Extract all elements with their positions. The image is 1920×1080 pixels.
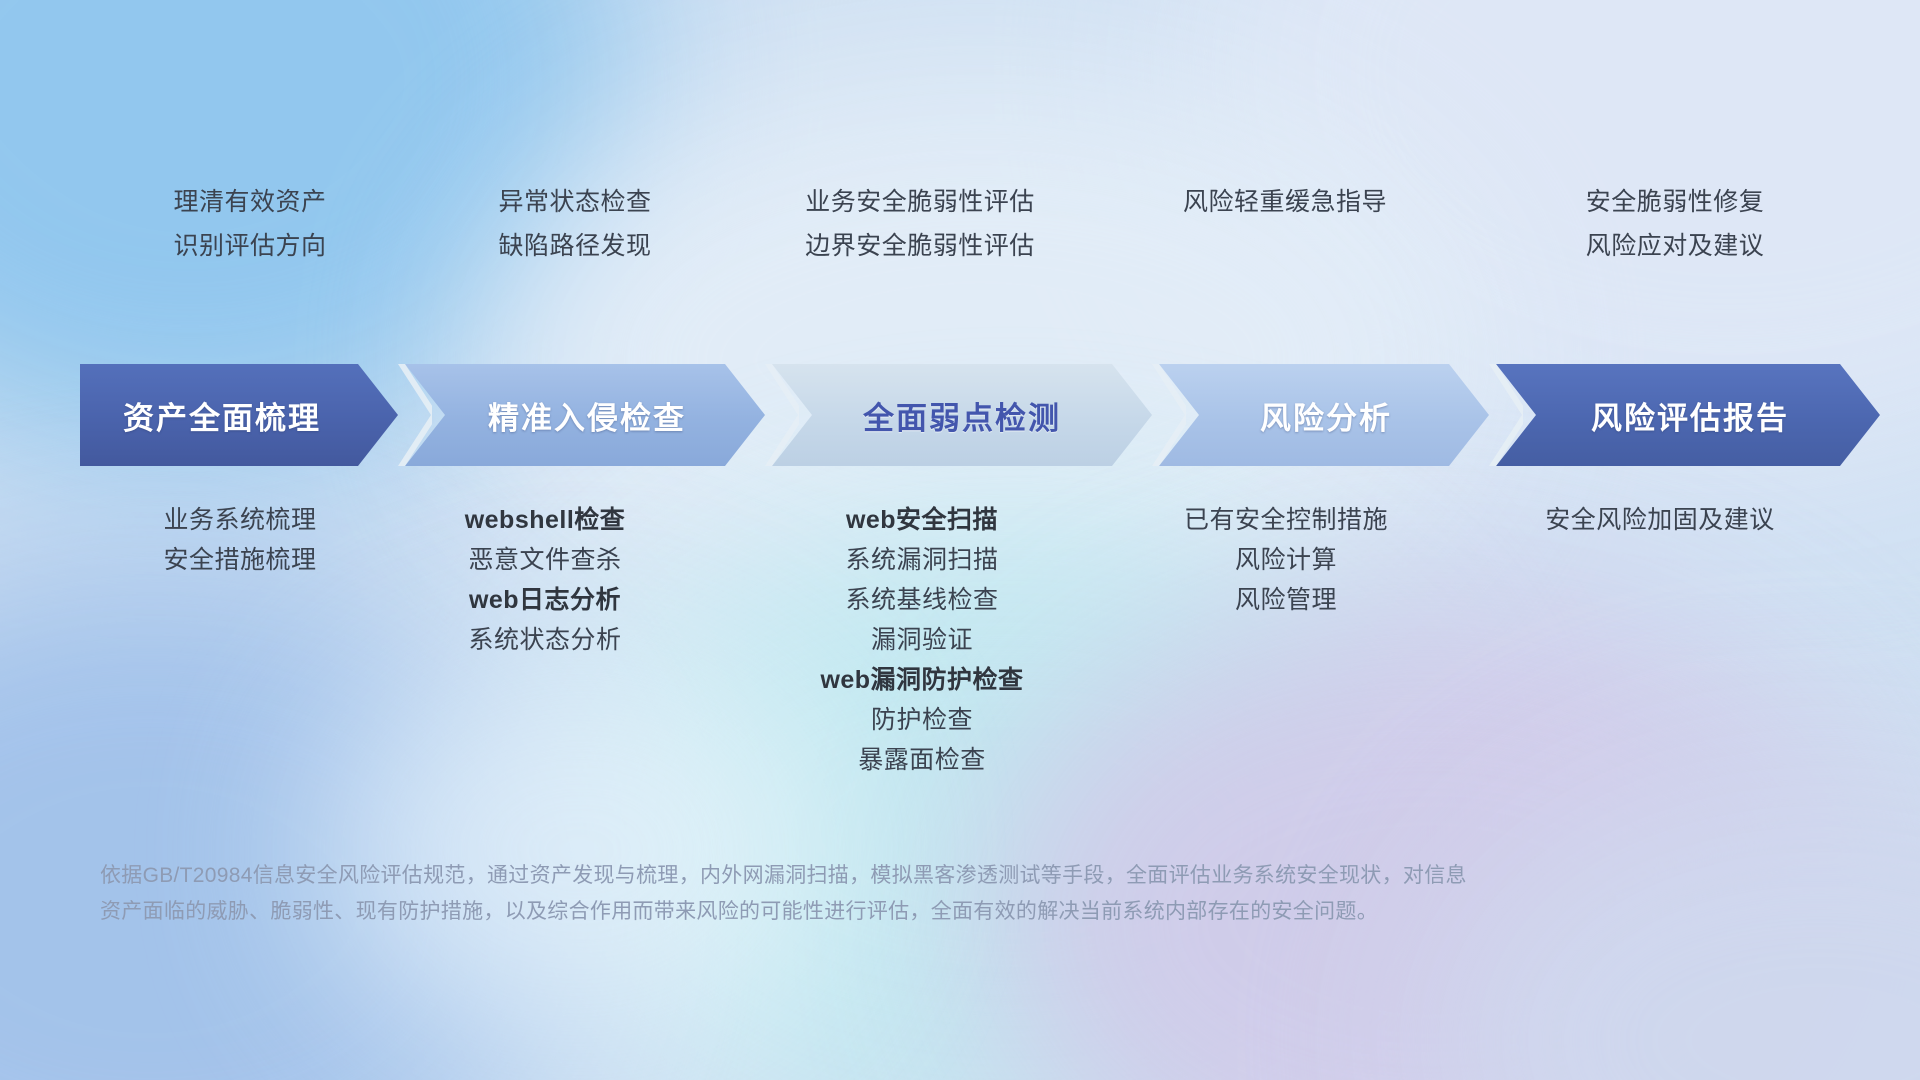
top-item: 风险轻重缓急指导 <box>1065 180 1505 224</box>
chevron-stage-weakness-detection[interactable]: 全面弱点检测 <box>772 364 1152 466</box>
bottom-item: 风险管理 <box>1066 580 1506 620</box>
process-chevron-banner: 资产全面梳理 精准入侵检查 全面弱点检测 风险分析 风险评估报告 <box>80 364 1880 466</box>
chevron-label: 全面弱点检测 <box>863 393 1061 438</box>
process-diagram: 理清有效资产 识别评估方向 异常状态检查 缺陷路径发现 业务安全脆弱性评估 边界… <box>0 0 1920 1080</box>
chevron-label: 风险分析 <box>1260 393 1392 438</box>
chevron-stage-risk-analysis[interactable]: 风险分析 <box>1159 364 1489 466</box>
footer-line-1: 依据GB/T20984信息安全风险评估规范，通过资产发现与梳理，内外网漏洞扫描，… <box>100 858 1820 894</box>
top-items-column-5: 安全脆弱性修复 风险应对及建议 <box>1445 180 1905 268</box>
chevron-label: 资产全面梳理 <box>123 393 321 438</box>
top-item: 风险应对及建议 <box>1445 224 1905 268</box>
bottom-item: 漏洞验证 <box>692 620 1152 660</box>
footer-line-2: 资产面临的威胁、脆弱性、现有防护措施，以及综合作用而带来风险的可能性进行评估，全… <box>100 894 1820 930</box>
bottom-item: web漏洞防护检查 <box>692 660 1152 700</box>
chevron-stage-risk-report[interactable]: 风险评估报告 <box>1496 364 1880 466</box>
bottom-item: 安全风险加固及建议 <box>1400 500 1920 540</box>
top-items-column-4: 风险轻重缓急指导 <box>1065 180 1505 224</box>
chevron-stage-asset-inventory[interactable]: 资产全面梳理 <box>80 364 398 466</box>
bottom-item: 防护检查 <box>692 700 1152 740</box>
bottom-item: 暴露面检查 <box>692 740 1152 780</box>
top-item: 边界安全脆弱性评估 <box>690 224 1150 268</box>
top-item: 安全脆弱性修复 <box>1445 180 1905 224</box>
footer-description: 依据GB/T20984信息安全风险评估规范，通过资产发现与梳理，内外网漏洞扫描，… <box>100 858 1820 930</box>
bottom-item: 风险计算 <box>1066 540 1506 580</box>
chevron-label: 精准入侵检查 <box>488 393 686 438</box>
chevron-stage-intrusion-check[interactable]: 精准入侵检查 <box>405 364 765 466</box>
bottom-items-column-5: 安全风险加固及建议 <box>1400 500 1920 540</box>
chevron-label: 风险评估报告 <box>1591 393 1789 438</box>
